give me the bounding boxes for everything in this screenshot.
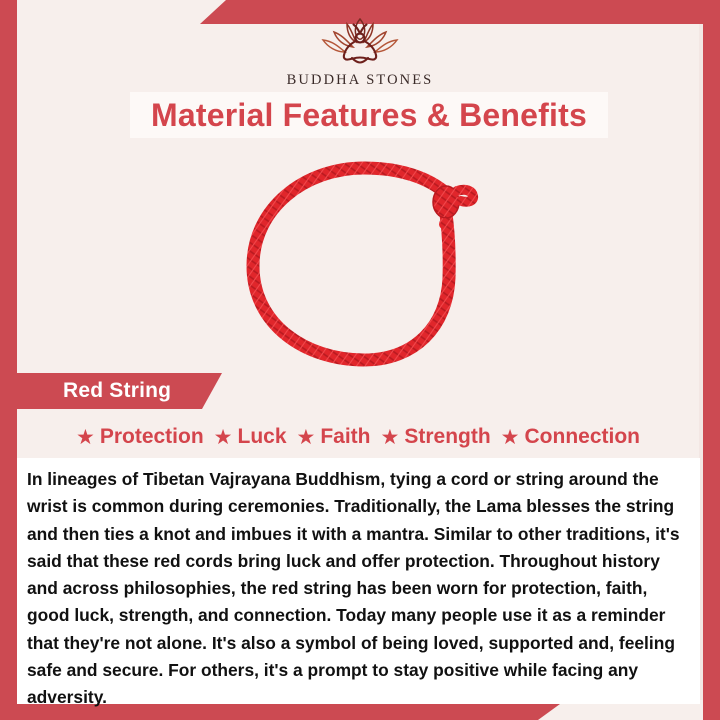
brand-logo: BUDDHA STONES bbox=[0, 12, 720, 89]
product-image-area bbox=[17, 150, 699, 378]
star-icon: ★ bbox=[214, 427, 233, 448]
benefit-label: Connection bbox=[525, 425, 641, 449]
star-icon: ★ bbox=[297, 427, 316, 448]
material-name-banner: Red String bbox=[17, 373, 222, 409]
benefit-item-strength: ★ Strength bbox=[381, 425, 491, 449]
benefit-label: Protection bbox=[100, 425, 204, 449]
description-paragraph: In lineages of Tibetan Vajrayana Buddhis… bbox=[27, 466, 682, 712]
decorative-right-strip bbox=[703, 24, 720, 720]
benefit-item-luck: ★ Luck bbox=[214, 425, 287, 449]
benefit-label: Strength bbox=[404, 425, 490, 449]
star-icon: ★ bbox=[76, 427, 95, 448]
benefit-label: Faith bbox=[320, 425, 370, 449]
lotus-meditation-icon bbox=[314, 12, 406, 70]
benefit-item-connection: ★ Connection bbox=[501, 425, 640, 449]
benefit-item-protection: ★ Protection bbox=[76, 425, 204, 449]
red-braided-cord-bracelet-image bbox=[233, 158, 483, 370]
page-title-band: Material Features & Benefits bbox=[130, 92, 608, 138]
description-block: In lineages of Tibetan Vajrayana Buddhis… bbox=[17, 458, 700, 704]
page-title: Material Features & Benefits bbox=[151, 97, 587, 134]
infographic-page: BUDDHA STONES Material Features & Benefi… bbox=[0, 0, 720, 720]
material-name-label: Red String bbox=[17, 379, 171, 403]
benefit-label: Luck bbox=[238, 425, 287, 449]
star-icon: ★ bbox=[501, 427, 520, 448]
benefits-list: ★ Protection ★ Luck ★ Faith ★ Strength ★… bbox=[17, 420, 699, 454]
benefit-item-faith: ★ Faith bbox=[297, 425, 371, 449]
star-icon: ★ bbox=[381, 427, 400, 448]
decorative-left-strip bbox=[0, 0, 17, 706]
brand-name: BUDDHA STONES bbox=[287, 72, 434, 89]
